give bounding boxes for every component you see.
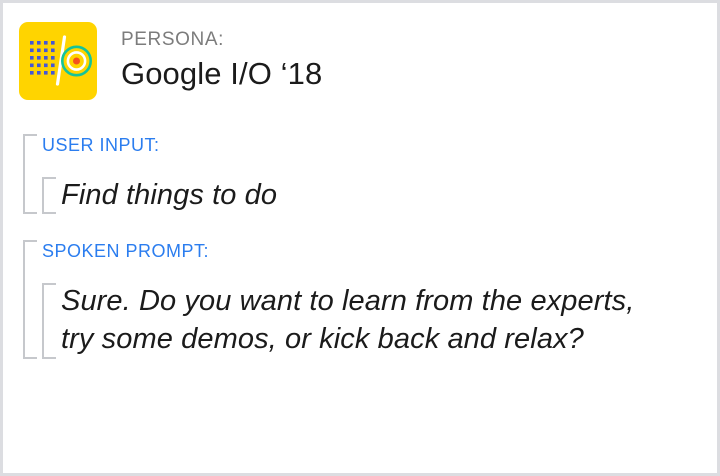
spoken-prompt-value-wrap: Sure. Do you want to learn from the expe… <box>42 283 717 358</box>
page-title: Google I/O ‘18 <box>121 56 322 93</box>
bracket-user-input-label <box>23 134 37 214</box>
google-io-logo <box>19 22 97 100</box>
user-input-label: USER INPUT: <box>42 136 717 156</box>
spoken-prompt-value: Sure. Do you want to learn from the expe… <box>61 283 717 358</box>
user-input-value: Find things to do <box>61 177 717 215</box>
persona-header: PERSONA: Google I/O ‘18 <box>3 3 717 100</box>
user-input-label-wrap: USER INPUT: <box>42 134 717 163</box>
user-input-line-1: Find things to do <box>61 177 717 215</box>
section-spoken-prompt: SPOKEN PROMPT: Sure. Do you want to lear… <box>23 240 717 358</box>
user-input-value-wrap: Find things to do <box>42 177 717 215</box>
persona-label: PERSONA: <box>121 29 322 51</box>
persona-text-group: PERSONA: Google I/O ‘18 <box>121 22 322 92</box>
bracket-spoken-prompt-label <box>23 240 37 358</box>
spoken-prompt-label: SPOKEN PROMPT: <box>42 242 717 262</box>
bracket-user-input-value <box>42 177 56 215</box>
spoken-prompt-label-wrap: SPOKEN PROMPT: <box>42 240 717 269</box>
spoken-prompt-line-1: Sure. Do you want to learn from the expe… <box>61 283 717 321</box>
bracket-spoken-prompt-value <box>42 283 56 358</box>
persona-dialogue-card: PERSONA: Google I/O ‘18 USER INPUT: Find… <box>0 0 720 476</box>
section-user-input: USER INPUT: Find things to do <box>23 134 717 214</box>
spoken-prompt-line-2: try some demos, or kick back and relax? <box>61 321 717 359</box>
